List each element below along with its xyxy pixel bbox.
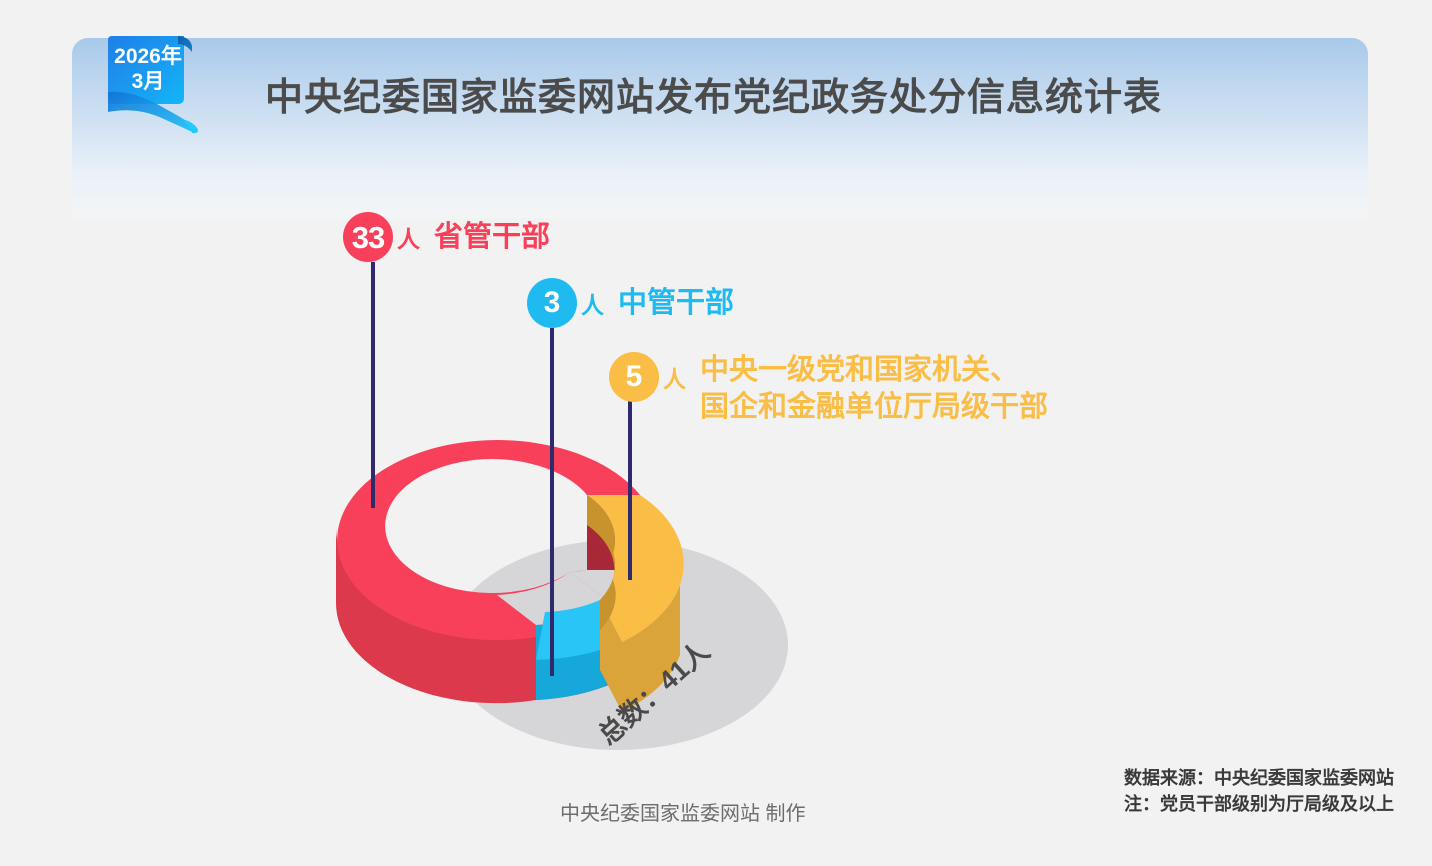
callout-label-amber-group: 中央一级党和国家机关、 国企和金融单位厅局级干部	[700, 352, 1048, 426]
callout-label-blue: 中管干部	[618, 285, 734, 322]
callout-value-bubble-amber: 5	[609, 352, 659, 402]
callout-省管干部[interactable]: 33 人 省管干部	[343, 212, 550, 262]
callout-label-amber-line1: 中央一级党和国家机关、	[700, 352, 1048, 389]
footer-credit: 中央纪委国家监委网站 制作	[560, 797, 806, 826]
callout-unit-amber: 人	[663, 360, 686, 394]
callout-label-red: 省管干部	[434, 219, 550, 256]
callout-value-bubble-red: 33	[343, 212, 393, 262]
donut-chart: 总数：41人	[0, 0, 1432, 866]
callout-label-amber-line2: 国企和金融单位厅局级干部	[700, 389, 1048, 426]
callout-unit-blue: 人	[581, 286, 604, 320]
callout-value-bubble-blue: 3	[527, 278, 577, 328]
footer-source: 数据来源：中央纪委国家监委网站 注：党员干部级别为厅局级及以上	[1124, 765, 1394, 817]
footer-source-line2: 注：党员干部级别为厅局级及以上	[1124, 791, 1394, 817]
callout-unit-red: 人	[397, 220, 420, 254]
callout-中管干部[interactable]: 3 人 中管干部	[527, 278, 734, 328]
footer-source-line1: 数据来源：中央纪委国家监委网站	[1124, 765, 1394, 791]
infographic-stage: 中央纪委国家监委网站发布党纪政务处分信息统计表	[0, 0, 1432, 866]
callout-中央一级党和国家机关[interactable]: 5 人 中央一级党和国家机关、 国企和金融单位厅局级干部	[609, 352, 1048, 426]
